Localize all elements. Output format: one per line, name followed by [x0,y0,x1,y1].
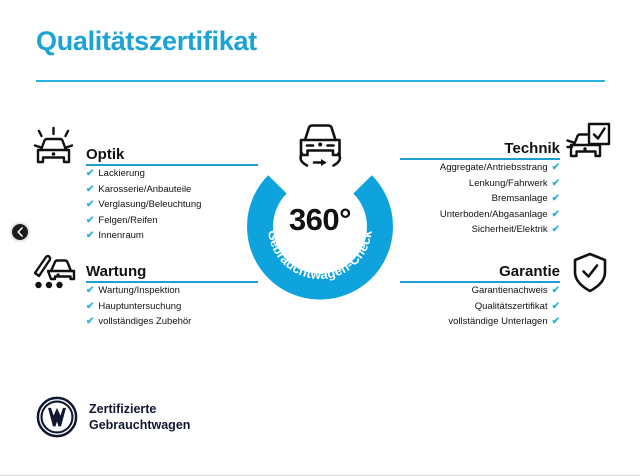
list-item: Bremsanlage✔ [400,191,560,207]
vw-certified-logo: Zertifizierte Gebrauchtwagen [36,396,190,438]
check-icon: ✔ [552,301,560,312]
section-technik-header: Technik [400,134,560,160]
title-divider [36,80,605,82]
list-item-label: Hauptuntersuchung [98,301,181,312]
section-optik-title: Optik [86,146,124,163]
vw-logo-text: Zertifizierte Gebrauchtwagen [89,401,190,433]
section-garantie: Garantie Garantienachweis✔Qualitätszerti… [400,257,560,330]
section-technik-divider [400,158,560,160]
car-wrench-icon [30,251,78,298]
check-icon: ✔ [552,162,560,173]
section-wartung-list: ✔Wartung/Inspektion✔Hauptuntersuchung✔vo… [86,283,258,330]
list-item-label: Qualitätszertifikat [475,301,548,312]
prev-slide-button[interactable] [10,222,30,242]
list-item: ✔Karosserie/Anbauteile [86,182,258,198]
list-item: ✔Hauptuntersuchung [86,299,258,315]
list-item-label: Wartung/Inspektion [98,285,180,296]
shield-check-icon [570,251,610,300]
car-rotate-icon [285,118,355,176]
section-garantie-title: Garantie [499,263,560,280]
list-item-label: Lenkung/Fahrwerk [469,178,548,189]
car-checkbox-icon [564,120,614,171]
section-garantie-header: Garantie [400,257,560,283]
list-item: ✔Verglasung/Beleuchtung [86,197,258,213]
car-shine-icon [30,126,78,175]
list-item: vollständige Unterlagen✔ [400,314,560,330]
qualitaetszertifikat-page: Qualitätszertifikat Optik [0,0,640,476]
check-icon: ✔ [86,184,94,195]
list-item-label: Sicherheit/Elektrik [472,224,548,235]
vw-logo-icon [36,396,78,438]
check-icon: ✔ [86,285,94,296]
section-technik-title: Technik [504,140,560,157]
list-item: Garantienachweis✔ [400,283,560,299]
check-icon: ✔ [86,168,94,179]
vw-logo-line2: Gebrauchtwagen [89,417,190,433]
list-item: ✔vollständiges Zubehör [86,314,258,330]
check-icon: ✔ [86,230,94,241]
list-item-label: Lackierung [98,168,144,179]
list-item-label: Bremsanlage [492,193,548,204]
list-item-label: Felgen/Reifen [98,215,157,226]
list-item: Qualitätszertifikat✔ [400,299,560,315]
list-item: ✔Innenraum [86,228,258,244]
section-wartung-header: Wartung [86,257,258,283]
list-item: ✔Wartung/Inspektion [86,283,258,299]
check-icon: ✔ [552,285,560,296]
list-item-label: Verglasung/Beleuchtung [98,199,201,210]
badge-degrees-label: 360° [243,202,397,238]
section-wartung-title: Wartung [86,263,146,280]
check-icon: ✔ [552,316,560,327]
check-icon: ✔ [552,178,560,189]
check-icon: ✔ [86,199,94,210]
list-item: ✔Lackierung [86,166,258,182]
list-item: ✔Felgen/Reifen [86,213,258,229]
chevron-left-icon [16,227,24,237]
page-title: Qualitätszertifikat [36,26,257,57]
section-optik-header: Optik [86,140,258,166]
list-item-label: Garantienachweis [472,285,548,296]
list-item-label: Karosserie/Anbauteile [98,184,191,195]
list-item: Aggregate/Antriebsstrang✔ [400,160,560,176]
section-technik-list: Aggregate/Antriebsstrang✔Lenkung/Fahrwer… [400,160,560,238]
360-check-badge: Gebrauchtwagen-Check 360° [243,150,397,304]
section-optik: Optik ✔Lackierung✔Karosserie/Anbauteile✔… [86,140,258,244]
section-garantie-list: Garantienachweis✔Qualitätszertifikat✔vol… [400,283,560,330]
check-icon: ✔ [86,215,94,226]
list-item-label: Aggregate/Antriebsstrang [440,162,548,173]
vw-logo-line1: Zertifizierte [89,401,190,417]
section-optik-divider [86,164,258,166]
check-icon: ✔ [552,193,560,204]
section-technik: Technik Aggregate/Antriebsstrang✔Lenkung… [400,134,560,238]
check-icon: ✔ [552,224,560,235]
list-item-label: Unterboden/Abgasanlage [440,209,548,220]
section-wartung-divider [86,281,258,283]
check-icon: ✔ [86,316,94,327]
list-item-label: vollständige Unterlagen [448,316,547,327]
section-garantie-divider [400,281,560,283]
check-icon: ✔ [86,301,94,312]
section-wartung: Wartung ✔Wartung/Inspektion✔Hauptuntersu… [86,257,258,330]
list-item: Lenkung/Fahrwerk✔ [400,176,560,192]
list-item: Sicherheit/Elektrik✔ [400,222,560,238]
list-item-label: Innenraum [98,230,143,241]
section-optik-list: ✔Lackierung✔Karosserie/Anbauteile✔Vergla… [86,166,258,244]
check-icon: ✔ [552,209,560,220]
list-item: Unterboden/Abgasanlage✔ [400,207,560,223]
list-item-label: vollständiges Zubehör [98,316,191,327]
